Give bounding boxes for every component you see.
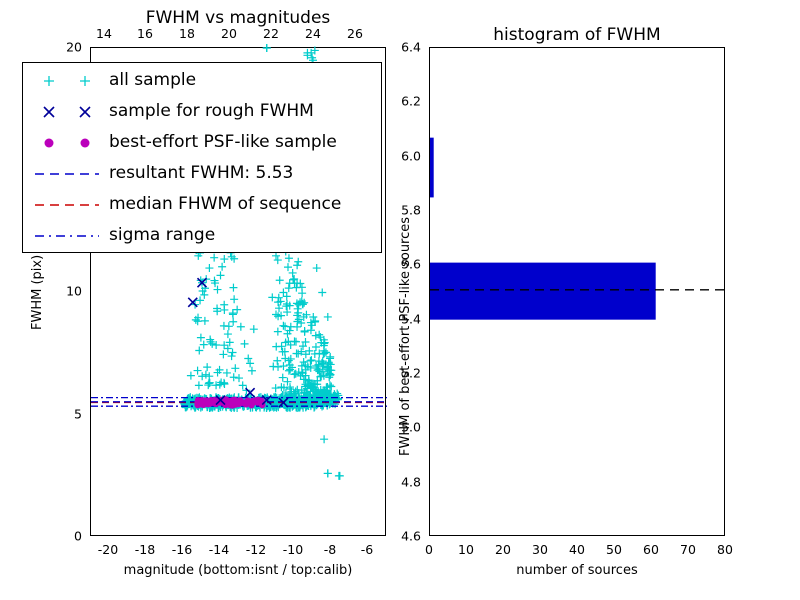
legend-item[interactable]: sample for rough FWHM bbox=[109, 96, 341, 127]
legend-label: median FHWM of sequence bbox=[109, 189, 341, 220]
x-tick-label: 30 bbox=[532, 542, 548, 557]
y-tick-label: 20 bbox=[66, 40, 82, 55]
legend-item[interactable]: resultant FWHM: 5.53 bbox=[109, 158, 341, 189]
bottom-tick-label: -10 bbox=[283, 542, 303, 557]
x-tick-label: 0 bbox=[425, 542, 433, 557]
y-tick-label: 4.8 bbox=[401, 474, 421, 489]
top-tick-label: 20 bbox=[221, 26, 237, 41]
legend-label: best-effort PSF-like sample bbox=[109, 127, 337, 158]
histogram-canvas bbox=[430, 48, 726, 537]
legend-box: all sample sample for rough FWHM best-ef… bbox=[22, 62, 382, 253]
legend-item[interactable]: best-effort PSF-like sample bbox=[109, 127, 341, 158]
bottom-tick-label: -18 bbox=[135, 542, 155, 557]
legend-label: sample for rough FWHM bbox=[109, 96, 314, 127]
x-tick-label: 20 bbox=[495, 542, 511, 557]
x-tick-label: 40 bbox=[569, 542, 585, 557]
left-yaxis-label: FWHM (pix) bbox=[30, 255, 45, 330]
y-tick-label: 6.4 bbox=[401, 40, 421, 55]
top-tick-label: 18 bbox=[179, 26, 195, 41]
legend-label: all sample bbox=[109, 65, 196, 96]
x-tick-label: 80 bbox=[717, 542, 733, 557]
right-plot-title: histogram of FWHM bbox=[429, 25, 725, 45]
top-tick-label: 26 bbox=[347, 26, 363, 41]
bottom-tick-label: -12 bbox=[246, 542, 266, 557]
x-tick-label: 50 bbox=[606, 542, 622, 557]
legend-item[interactable]: median FHWM of sequence bbox=[109, 189, 341, 220]
histogram-bar bbox=[430, 138, 434, 198]
x-tick-label: 10 bbox=[458, 542, 474, 557]
y-tick-label: 6.2 bbox=[401, 94, 421, 109]
y-tick-label: 6.0 bbox=[401, 148, 421, 163]
left-plot-title: FWHM vs magnitudes bbox=[90, 8, 386, 28]
legend-item[interactable]: all sample bbox=[109, 65, 341, 96]
top-tick-label: 14 bbox=[96, 26, 112, 41]
legend-item[interactable]: sigma range bbox=[109, 220, 341, 251]
y-tick-label: 5 bbox=[74, 407, 82, 422]
x-tick-label: 60 bbox=[643, 542, 659, 557]
bottom-tick-label: -16 bbox=[172, 542, 192, 557]
legend-label: resultant FWHM: 5.53 bbox=[109, 158, 293, 189]
y-tick-label: 5.8 bbox=[401, 203, 421, 218]
right-yaxis-label: FWHM of best-effort PSF-like sources bbox=[398, 217, 413, 456]
bottom-tick-label: -14 bbox=[209, 542, 229, 557]
left-xaxis-label: magnitude (bottom:isnt / top:calib) bbox=[60, 563, 416, 578]
bottom-tick-label: -8 bbox=[324, 542, 336, 557]
y-tick-label: 4.6 bbox=[401, 529, 421, 544]
bottom-tick-label: -20 bbox=[98, 542, 118, 557]
right-xaxis-label: number of sources bbox=[429, 563, 725, 578]
top-tick-label: 22 bbox=[263, 26, 279, 41]
y-tick-label: 10 bbox=[66, 284, 82, 299]
top-tick-label: 24 bbox=[305, 26, 321, 41]
legend-label: sigma range bbox=[109, 220, 215, 251]
bottom-tick-label: -6 bbox=[361, 542, 373, 557]
top-tick-label: 16 bbox=[137, 26, 153, 41]
histogram-bar bbox=[430, 263, 656, 320]
x-tick-label: 70 bbox=[680, 542, 696, 557]
y-tick-label: 0 bbox=[74, 529, 82, 544]
